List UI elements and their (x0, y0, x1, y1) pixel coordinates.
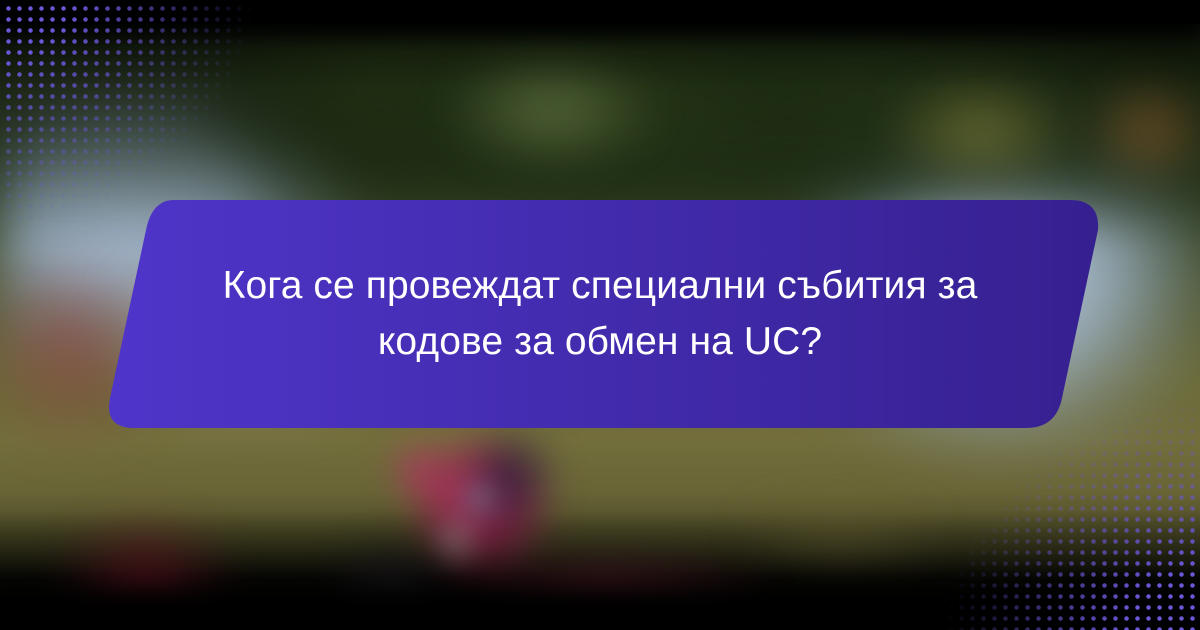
question-text-block: Кога се провеждат специални събития за к… (150, 200, 1050, 428)
background-red-debris (0, 250, 170, 450)
question-line-1: Кога се провеждат специални събития за (223, 258, 978, 314)
background-highlight-c (1080, 70, 1200, 190)
letterbox-bar-top (0, 0, 1200, 24)
letterbox-bar-bottom (0, 605, 1200, 630)
social-card: Кога се провеждат специални събития за к… (0, 0, 1200, 630)
background-highlight-b (880, 70, 1080, 190)
question-line-2: кодове за обмен на UC? (378, 314, 822, 370)
background-highlight-a (440, 50, 660, 170)
background-crate (740, 500, 940, 570)
